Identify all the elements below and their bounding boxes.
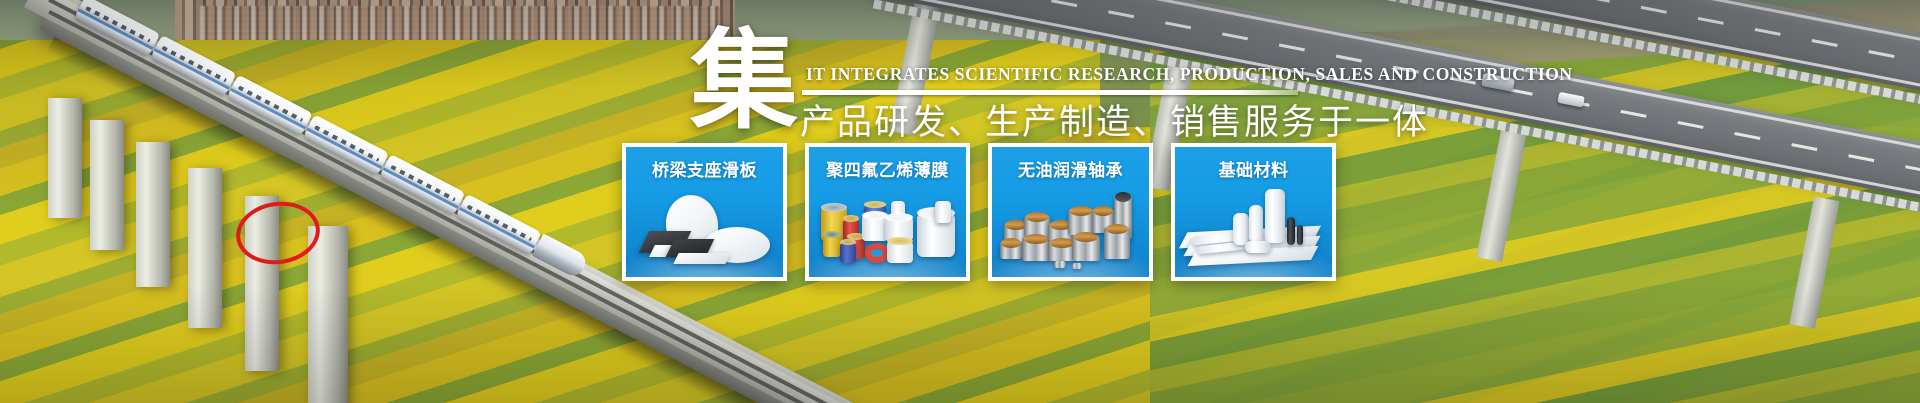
bearing-bore bbox=[1001, 238, 1020, 248]
roll-core bbox=[823, 231, 841, 238]
product-art-bearings bbox=[992, 179, 1149, 273]
card-surface: 无油润滑轴承 bbox=[992, 147, 1149, 277]
film-ring-red bbox=[865, 243, 889, 263]
product-card-title: 桥梁支座滑板 bbox=[626, 156, 783, 181]
ptfe-tube-large bbox=[1265, 189, 1285, 243]
chinese-tagline: 产品研发、生产制造、销售服务于一体 bbox=[800, 99, 1429, 147]
product-card-oilless-bearing[interactable]: 无油润滑轴承 bbox=[988, 143, 1153, 281]
film-roll-white bbox=[887, 241, 913, 263]
card-surface: 基础材料 bbox=[1175, 147, 1332, 277]
bearing-bore bbox=[1050, 238, 1075, 248]
headline-divider-rule bbox=[802, 90, 1298, 95]
product-card-base-material[interactable]: 基础材料 bbox=[1171, 143, 1336, 281]
product-art-ptfe-plates bbox=[626, 179, 783, 273]
highway-pier bbox=[1476, 129, 1526, 262]
ptfe-tube bbox=[1249, 205, 1263, 243]
viaduct-pier bbox=[90, 120, 124, 250]
roll-core bbox=[862, 211, 888, 220]
roll-core bbox=[843, 215, 859, 222]
product-card-title: 基础材料 bbox=[1175, 156, 1332, 181]
product-card-bridge-bearing-plate[interactable]: 桥梁支座滑板 bbox=[622, 143, 787, 281]
bearing-bore bbox=[1074, 232, 1099, 242]
roll-core bbox=[885, 213, 913, 222]
roll-core bbox=[887, 237, 913, 245]
viaduct-pier bbox=[188, 168, 222, 328]
ptfe-rod-black bbox=[1287, 217, 1295, 245]
roll-core bbox=[840, 239, 856, 245]
bearing-bush bbox=[1022, 237, 1050, 261]
viaduct-pier bbox=[136, 142, 170, 287]
bearing-washer bbox=[1054, 261, 1066, 268]
roll-core bbox=[821, 203, 847, 212]
film-roll-blue bbox=[840, 243, 856, 263]
ptfe-rod bbox=[1245, 241, 1271, 253]
film-roll-small-white bbox=[935, 201, 951, 223]
card-surface: 聚四氟乙烯薄膜 bbox=[809, 147, 966, 277]
ptfe-plate-white bbox=[673, 253, 730, 264]
product-art-film-rolls bbox=[809, 179, 966, 273]
bearing-bore bbox=[1070, 206, 1093, 216]
headline-big-character: 集 bbox=[690, 26, 798, 138]
headline-block: 集 IT INTEGRATES SCIENTIFIC RESEARCH, PRO… bbox=[690, 26, 1450, 156]
bearing-bore bbox=[1093, 206, 1112, 216]
english-tagline: IT INTEGRATES SCIENTIFIC RESEARCH, PRODU… bbox=[806, 64, 1573, 85]
bearing-bore bbox=[1024, 234, 1049, 244]
viaduct-pier bbox=[308, 226, 348, 403]
product-card-title: 聚四氟乙烯薄膜 bbox=[809, 156, 966, 181]
product-card-title: 无油润滑轴承 bbox=[992, 156, 1149, 181]
roll-core bbox=[864, 201, 886, 208]
viaduct-pier bbox=[48, 98, 82, 218]
ptfe-tube bbox=[1233, 213, 1249, 245]
bearing-bore bbox=[1115, 192, 1131, 202]
bearing-bush bbox=[1068, 209, 1094, 235]
bearing-bore bbox=[1106, 224, 1129, 234]
product-card-ptfe-film[interactable]: 聚四氟乙烯薄膜 bbox=[805, 143, 970, 281]
film-roll-yellow bbox=[823, 235, 841, 257]
product-card-list: 桥梁支座滑板 聚四氟乙烯薄膜 bbox=[622, 143, 1336, 281]
bearing-bore bbox=[1026, 212, 1049, 222]
card-surface: 桥梁支座滑板 bbox=[626, 147, 783, 277]
product-art-raw-stock bbox=[1175, 179, 1332, 273]
bearing-bush bbox=[1000, 241, 1022, 259]
hero-banner: 集 IT INTEGRATES SCIENTIFIC RESEARCH, PRO… bbox=[0, 0, 1920, 403]
bearing-washer bbox=[1072, 263, 1082, 269]
ptfe-rod-black bbox=[1297, 225, 1303, 245]
bearing-sleeve-tall bbox=[1104, 227, 1130, 259]
bearing-bush bbox=[1072, 235, 1100, 261]
highway-pier bbox=[1789, 196, 1839, 329]
